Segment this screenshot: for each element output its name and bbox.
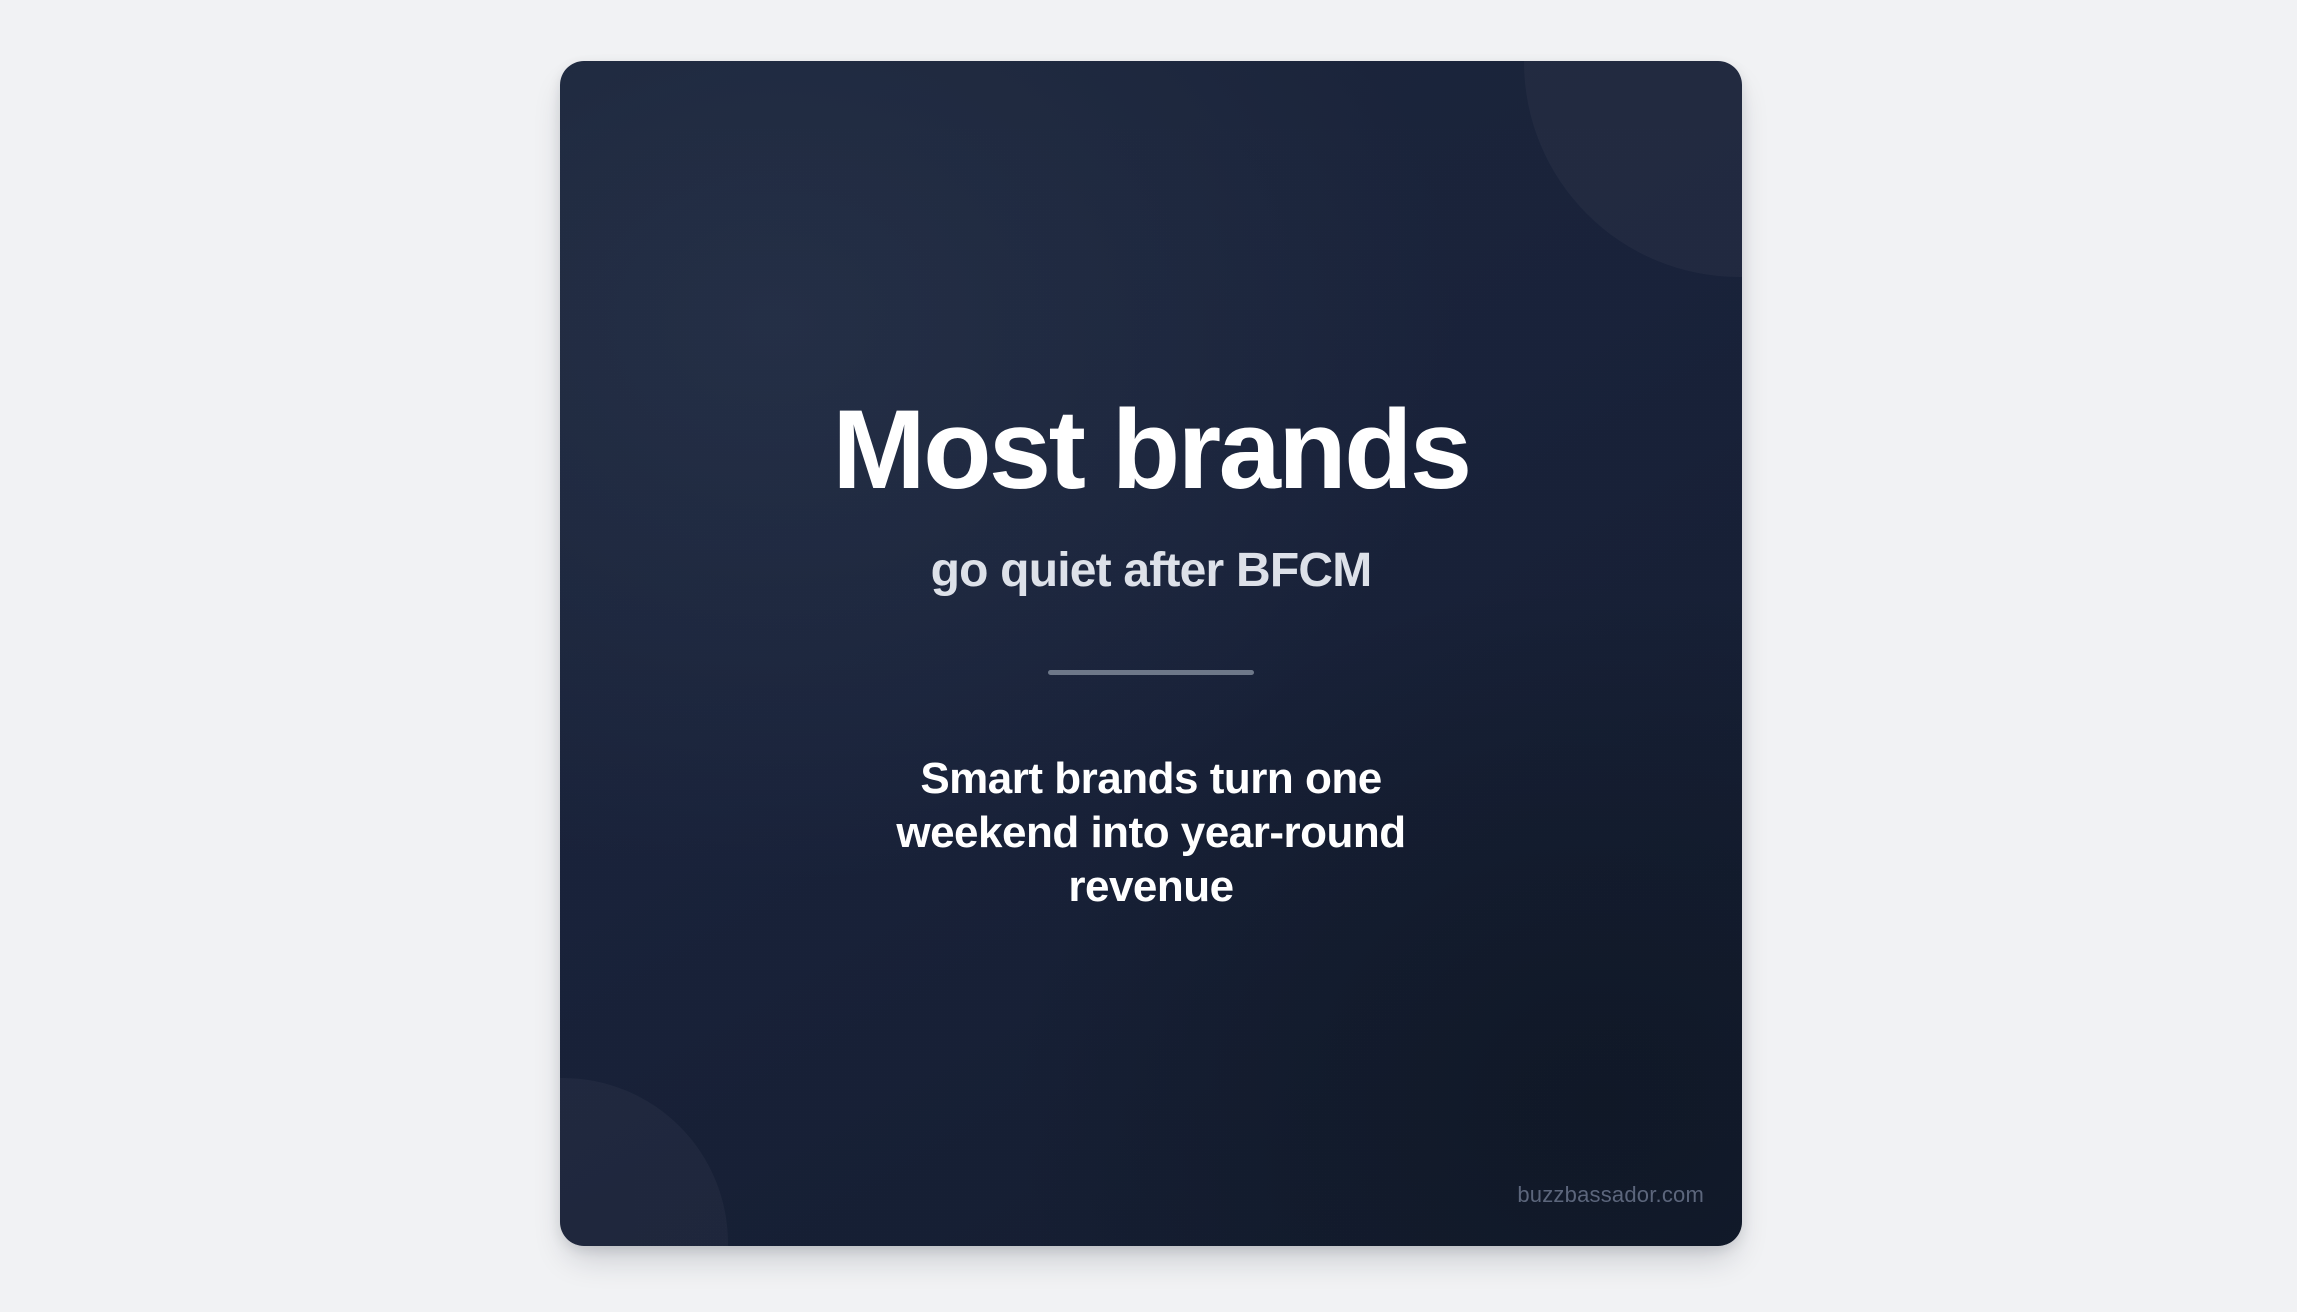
page-canvas: Most brands go quiet after BFCM Smart br… <box>0 0 2297 1312</box>
card-content: Most brands go quiet after BFCM Smart br… <box>560 61 1742 1246</box>
card-subheadline: go quiet after BFCM <box>931 546 1372 596</box>
card-headline: Most brands <box>832 394 1469 506</box>
brand-watermark: buzzbassador.com <box>1517 1182 1704 1208</box>
section-divider <box>1048 670 1254 675</box>
social-share-card: Most brands go quiet after BFCM Smart br… <box>560 61 1742 1246</box>
card-body-copy: Smart brands turn one weekend into year-… <box>831 752 1471 913</box>
